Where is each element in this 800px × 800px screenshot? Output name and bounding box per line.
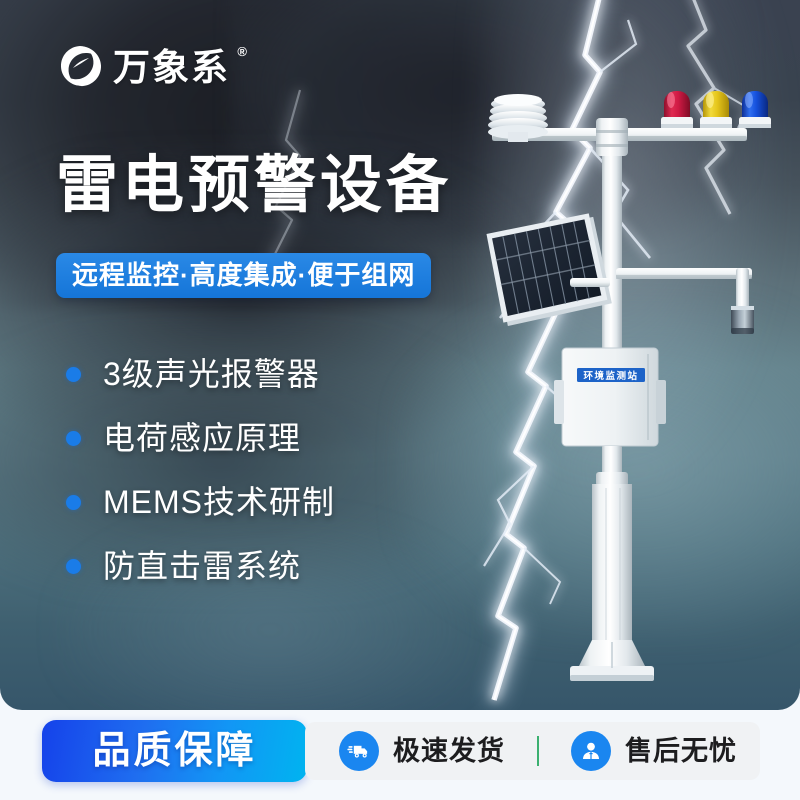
service-fast-shipping: 极速发货 — [339, 731, 505, 771]
weather-station-product: 环境监测站 — [420, 80, 800, 710]
bullet-dot-icon — [66, 431, 81, 446]
feature-item: 3级声光报警器 — [66, 343, 335, 405]
service-label: 极速发货 — [393, 738, 505, 765]
feature-list: 3级声光报警器 电荷感应原理 MEMS技术研制 防直击雷系统 — [66, 343, 335, 599]
cabinet-label-text: 环境监测站 — [583, 370, 638, 382]
bullet-dot-icon — [66, 559, 81, 574]
subtitle-text: 远程监控·高度集成·便于组网 — [72, 262, 415, 288]
blue-alarm-beacon — [739, 91, 771, 128]
quality-badge: 品质保障 — [42, 720, 307, 782]
feature-label: 电荷感应原理 — [103, 422, 301, 454]
subtitle-banner: 远程监控·高度集成·便于组网 — [56, 253, 431, 298]
feature-label: 3级声光报警器 — [103, 358, 320, 390]
feature-label: MEMS技术研制 — [103, 486, 335, 518]
service-badges-bar: 极速发货 售后无忧 — [305, 722, 760, 780]
service-label: 售后无忧 — [625, 738, 737, 765]
feature-item: 防直击雷系统 — [66, 535, 335, 597]
solar-panel — [486, 212, 614, 327]
delivery-truck-icon — [339, 731, 379, 771]
bullet-dot-icon — [66, 495, 81, 510]
radiation-shield-sensor — [488, 94, 548, 142]
feature-item: 电荷感应原理 — [66, 407, 335, 469]
alarm-beacon-group — [661, 91, 771, 128]
quality-badge-label: 品质保障 — [92, 732, 256, 770]
feature-label: 防直击雷系统 — [103, 550, 301, 582]
brand-logo: 万象系 ® — [58, 40, 230, 92]
base-flange — [570, 640, 654, 681]
sensor-arm — [616, 268, 754, 334]
support-agent-icon — [571, 731, 611, 771]
brand-name: 万象系 — [113, 49, 230, 86]
page-title: 雷电预警设备 — [56, 155, 452, 217]
trademark-symbol: ® — [237, 44, 247, 59]
service-after-sales: 售后无忧 — [571, 731, 737, 771]
red-alarm-beacon — [661, 91, 693, 128]
control-cabinet: 环境监测站 — [554, 348, 666, 446]
feature-item: MEMS技术研制 — [66, 471, 335, 533]
swoosh-circle-logo-icon — [58, 43, 104, 89]
product-poster: 环境监测站 — [0, 0, 800, 800]
service-divider — [537, 736, 539, 766]
yellow-alarm-beacon — [700, 91, 732, 128]
bullet-dot-icon — [66, 367, 81, 382]
